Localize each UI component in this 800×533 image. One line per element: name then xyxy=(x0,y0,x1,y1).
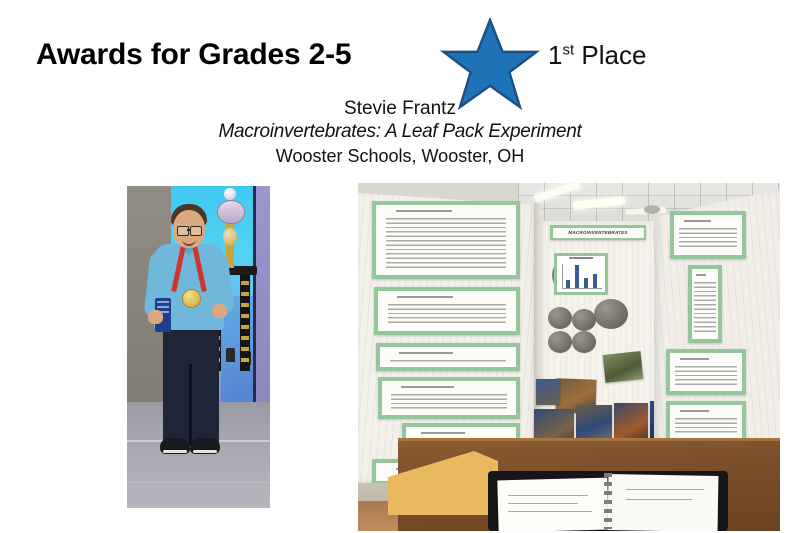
eyeglasses-lens xyxy=(177,226,189,236)
mini-trophy xyxy=(226,348,235,362)
chart-x-axis xyxy=(562,288,602,289)
page-title: Awards for Grades 2-5 xyxy=(36,38,351,72)
page-text-line xyxy=(626,489,704,490)
panel-abstract xyxy=(372,201,520,279)
eyeglasses-bridge xyxy=(187,229,190,231)
entry-details: Stevie Frantz Macroinvertebrates: A Leaf… xyxy=(0,98,800,168)
student-shoe xyxy=(160,438,190,454)
student-hand xyxy=(148,310,163,324)
rock-specimen xyxy=(548,331,572,353)
chart-bar xyxy=(584,278,588,288)
field-photo-stream xyxy=(603,351,644,383)
slide-canvas: Awards for Grades 2-5 1st Place Stevie F… xyxy=(0,0,800,533)
floor-seam-2 xyxy=(127,482,270,483)
place-word: Place xyxy=(574,40,646,70)
binder-rings xyxy=(604,473,612,529)
project-title: Macroinvertebrates: A Leaf Pack Experime… xyxy=(0,120,800,144)
binder-page-right xyxy=(608,474,719,531)
panel-references xyxy=(666,401,746,443)
panel-discussion xyxy=(666,349,746,395)
slide-header: Awards for Grades 2-5 1st Place xyxy=(0,0,800,100)
science-fair-board-photo: MACROINVERTEBRATES A LEAF PACK EXPERIMEN… xyxy=(358,183,780,531)
chart-bar xyxy=(593,274,597,288)
gold-medal xyxy=(182,289,201,308)
page-text-line xyxy=(626,499,692,500)
page-text-line xyxy=(508,503,578,504)
results-bar-chart xyxy=(554,253,608,295)
student-shoe xyxy=(190,438,220,454)
binder-page-left xyxy=(497,478,608,531)
student-hand xyxy=(212,304,227,318)
place-ordinal: st xyxy=(562,41,574,58)
rock-specimen xyxy=(594,299,628,329)
chart-bar xyxy=(566,280,570,288)
room-wall-right xyxy=(256,186,270,402)
star-icon xyxy=(438,18,542,110)
leg-gap xyxy=(189,364,192,446)
page-text-line xyxy=(508,495,588,496)
panel-hypothesis xyxy=(376,343,520,371)
student-with-trophy-photo xyxy=(127,186,270,508)
student-name: Stevie Frantz xyxy=(0,98,800,120)
banner-text: MACROINVERTEBRATES xyxy=(553,228,644,238)
panel-data-table xyxy=(688,265,722,343)
rock-specimen xyxy=(572,309,596,331)
place-label: 1st Place xyxy=(548,40,646,71)
place-number: 1 xyxy=(548,40,562,70)
chart-bar xyxy=(575,265,579,288)
school-line: Wooster Schools, Wooster, OH xyxy=(0,144,800,168)
chart-y-axis xyxy=(562,264,563,288)
bar-chart-plot xyxy=(557,256,605,292)
trophy-cup xyxy=(217,200,245,224)
eyeglasses-lens xyxy=(190,226,202,236)
chart-title-rule xyxy=(557,257,605,259)
banner-macroinvertebrates: MACROINVERTEBRATES xyxy=(550,225,646,240)
page-text-line xyxy=(508,511,592,512)
rock-specimen xyxy=(548,307,572,329)
ceiling-speaker-icon xyxy=(644,205,660,214)
panel-purpose xyxy=(374,287,520,335)
trophy-topper xyxy=(224,188,236,200)
panel-results xyxy=(670,211,746,259)
rock-specimen xyxy=(572,331,596,353)
panel-conclusion xyxy=(378,377,520,419)
collage-photo xyxy=(536,379,560,405)
trophy-ornament xyxy=(223,228,237,246)
trophy-column xyxy=(240,275,250,371)
